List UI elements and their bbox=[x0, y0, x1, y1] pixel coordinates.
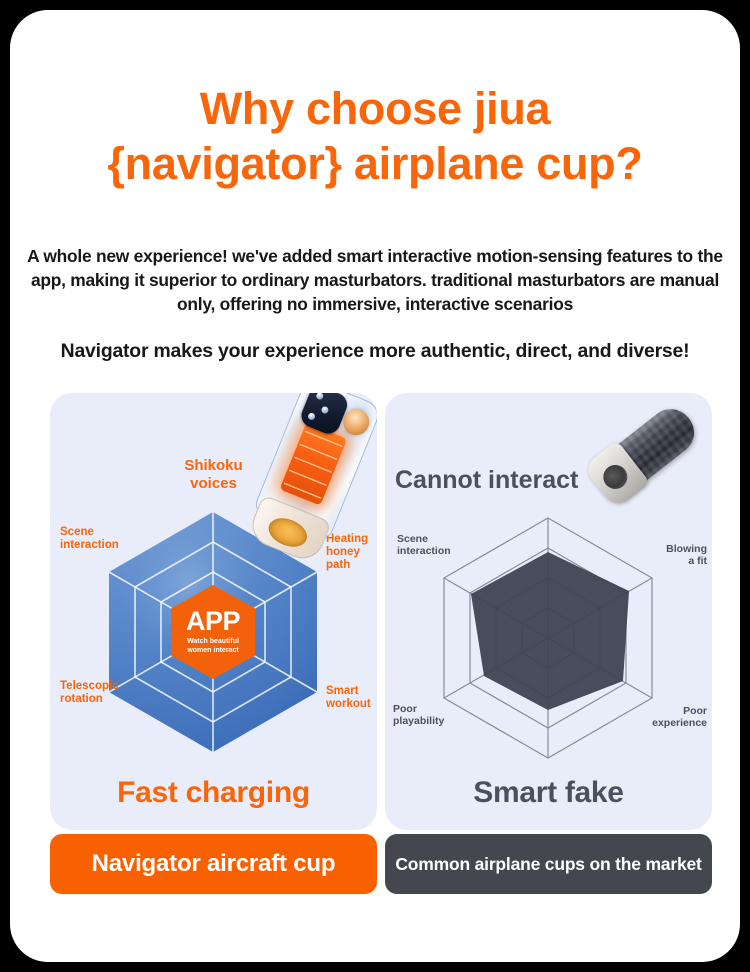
radar-label-telescopic-rotation: Telescopic rotation bbox=[60, 680, 140, 706]
radar-label-scene-interaction: Scene interaction bbox=[60, 526, 140, 552]
footer-bar-navigator[interactable]: Navigator aircraft cup bbox=[50, 834, 377, 894]
card-common-cup: Cannot interact Blowing a fit Poor exper… bbox=[385, 393, 712, 830]
footer-bar-common-label: Common airplane cups on the market bbox=[395, 854, 701, 875]
radar-label-blowing-a-fit: Blowing a fit bbox=[643, 543, 707, 567]
card-navigator: APP Watch beautiful women interact Shiko… bbox=[50, 393, 377, 830]
radar-label-poor-playability: Poor playability bbox=[393, 703, 475, 727]
card-left-headline: Fast charging bbox=[50, 776, 377, 810]
radar-area-common bbox=[471, 552, 629, 710]
cup-button-dot bbox=[320, 405, 329, 414]
app-badge-title: APP bbox=[186, 608, 240, 635]
radar-label-smart-workout: Smart workout bbox=[326, 685, 377, 711]
radar-label-poor-experience: Poor experience bbox=[637, 705, 707, 729]
cup-button-dot bbox=[315, 393, 324, 401]
footer-bar-navigator-label: Navigator aircraft cup bbox=[92, 850, 336, 878]
radar-label-heating-honey-path: Heating honey path bbox=[326, 533, 377, 573]
footer-bar-common[interactable]: Common airplane cups on the market bbox=[385, 834, 712, 894]
common-cup-hole bbox=[598, 460, 632, 494]
app-badge-subtitle: Watch beautiful women interact bbox=[187, 638, 239, 656]
cup-cap-opening bbox=[264, 513, 311, 552]
card-right-headline: Smart fake bbox=[385, 776, 712, 810]
radar-label-scene-interaction: Scene interaction bbox=[397, 533, 475, 557]
page-frame: Why choose jiua {navigator} airplane cup… bbox=[10, 10, 740, 962]
cup-button-dot bbox=[307, 412, 316, 421]
comparison-cards: APP Watch beautiful women interact Shiko… bbox=[10, 10, 740, 962]
